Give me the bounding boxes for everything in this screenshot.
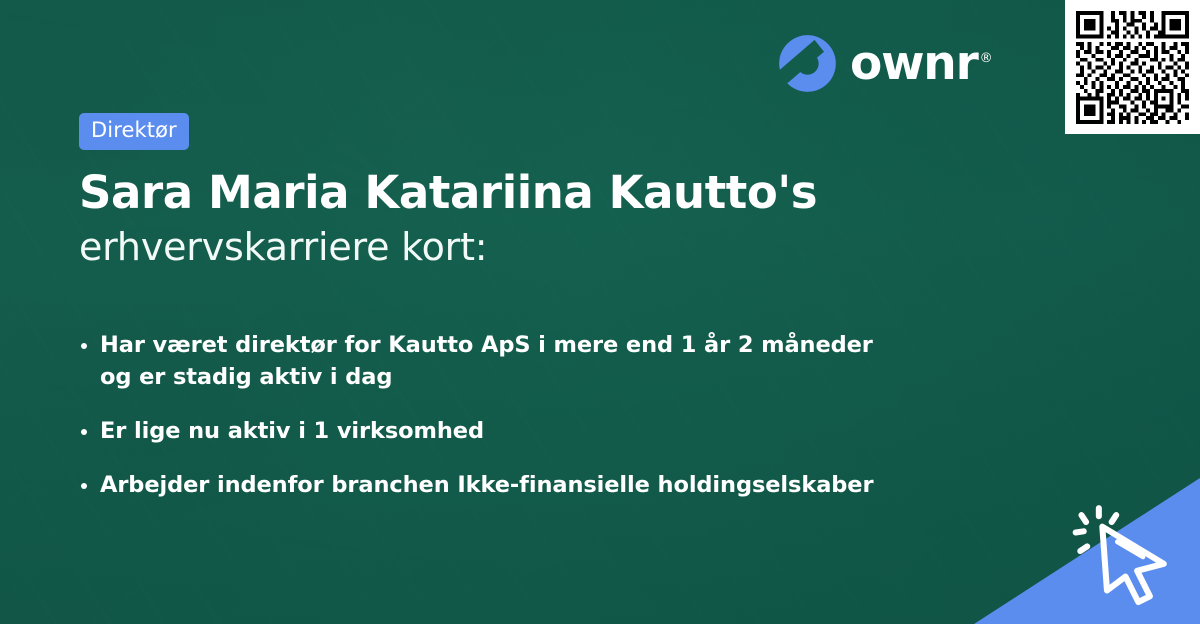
facts-list: Har været direktør for Kautto ApS i mere… — [79, 330, 979, 502]
bullet-icon — [81, 343, 87, 349]
content-block: Direktør Sara Maria Katariina Kautto's e… — [79, 0, 979, 502]
qr-code-panel[interactable] — [1065, 0, 1200, 134]
page-subtitle: erhvervskarriere kort: — [79, 228, 979, 268]
list-item-text: Arbejder indenfor branchen Ikke-finansie… — [100, 472, 873, 498]
qr-code[interactable] — [1076, 11, 1189, 124]
registered-trademark-icon: ® — [980, 51, 993, 66]
click-cursor-icon — [1071, 500, 1187, 616]
bullet-icon — [81, 483, 87, 489]
list-item: Arbejder indenfor branchen Ikke-finansie… — [79, 470, 879, 502]
list-item: Har været direktør for Kautto ApS i mere… — [79, 330, 879, 394]
page-title: Sara Maria Katariina Kautto's — [79, 170, 979, 216]
list-item: Er lige nu aktiv i 1 virksomhed — [79, 416, 879, 448]
career-card: ownr® Direktør Sara Maria Katariina Kaut… — [0, 0, 1200, 624]
bullet-icon — [81, 429, 87, 435]
list-item-text: Er lige nu aktiv i 1 virksomhed — [100, 418, 484, 444]
role-badge: Direktør — [79, 113, 189, 150]
list-item-text: Har været direktør for Kautto ApS i mere… — [100, 332, 873, 390]
